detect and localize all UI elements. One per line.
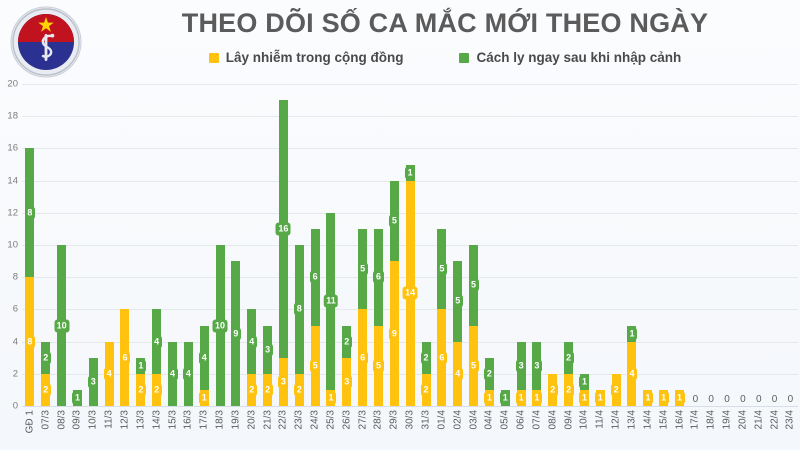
bar-stack: 22 — [422, 342, 431, 406]
bar-stack: 2 — [548, 374, 557, 406]
bar-segment-quarantine[interactable]: 4 — [200, 326, 209, 390]
y-axis-tick-2: 2 — [0, 368, 18, 379]
y-axis-tick-4: 4 — [0, 336, 18, 347]
bar-stack: 21 — [485, 358, 494, 406]
bar-segment-quarantine[interactable]: 9 — [231, 261, 240, 406]
bar-value-label-quarantine: 4 — [183, 367, 193, 380]
bar-column[interactable]: 3 — [85, 84, 101, 406]
bar-stack: 9 — [231, 261, 240, 406]
bar-column[interactable]: 82 — [291, 84, 307, 406]
bar-value-label-community: 6 — [437, 351, 447, 364]
bar-column[interactable]: 11 — [577, 84, 593, 406]
legend-label-quarantine: Cách ly ngay sau khi nhập cảnh — [476, 50, 681, 65]
bar-column[interactable]: 0 — [687, 84, 703, 406]
bar-column[interactable]: 12 — [133, 84, 149, 406]
bar-value-label-quarantine: 2 — [41, 351, 51, 364]
legend-label-community: Lây nhiễm trong cộng đồng — [226, 50, 404, 65]
bar-value-label-quarantine: 1 — [579, 375, 589, 388]
y-axis-tick-14: 14 — [0, 175, 18, 186]
x-axis-tick-label: 17/4 — [690, 410, 701, 429]
bar-column[interactable]: 1 — [640, 84, 656, 406]
bar-column[interactable]: 9 — [228, 84, 244, 406]
bar-column[interactable]: 22 — [38, 84, 54, 406]
x-axis-tick-label: 06/4 — [516, 410, 527, 429]
bar-column[interactable]: 4 — [180, 84, 196, 406]
bar-column[interactable]: 21 — [481, 84, 497, 406]
bar-value-label-community: 2 — [294, 383, 304, 396]
x-axis-cell: 27/3 — [355, 408, 371, 450]
bar-segment-quarantine[interactable]: 4 — [168, 342, 177, 406]
bar-segment-quarantine[interactable]: 6 — [311, 229, 320, 326]
bar-segment-quarantine[interactable]: 5 — [453, 261, 462, 342]
bar-segment-community[interactable]: 8 — [25, 277, 34, 406]
bar-stack: 56 — [358, 229, 367, 406]
bar-segment-quarantine[interactable]: 3 — [517, 342, 526, 390]
bar-stack: 23 — [342, 326, 351, 406]
chart-x-axis: GĐ 107/308/309/310/311/312/313/314/315/3… — [22, 408, 798, 450]
x-axis-cell: 04/4 — [481, 408, 497, 450]
chart-header: THEO DÕI SỐ CA MẮC MỚI THEO NGÀY Lây nhi… — [0, 0, 800, 84]
bar-column[interactable]: 0 — [719, 84, 735, 406]
bar-value-label-quarantine: 4 — [199, 351, 209, 364]
bar-column[interactable]: 42 — [149, 84, 165, 406]
bar-segment-community[interactable]: 6 — [437, 309, 446, 406]
bar-segment-community[interactable]: 2 — [247, 374, 256, 406]
x-axis-cell: 08/4 — [545, 408, 561, 450]
x-axis-tick-label: 09/3 — [72, 410, 83, 429]
bar-segment-quarantine[interactable]: 2 — [342, 326, 351, 358]
bar-column[interactable]: 65 — [307, 84, 323, 406]
bar-stack: 12 — [136, 358, 145, 406]
bar-segment-community[interactable]: 4 — [105, 342, 114, 406]
bar-column[interactable]: 111 — [323, 84, 339, 406]
bar-column[interactable]: 1 — [497, 84, 513, 406]
bar-stack: 55 — [469, 245, 478, 406]
x-axis-cell: 08/3 — [54, 408, 70, 450]
bar-segment-community[interactable]: 1 — [643, 390, 652, 406]
bar-column[interactable]: 0 — [783, 84, 799, 406]
bar-segment-community[interactable]: 2 — [41, 374, 50, 406]
bar-value-label-quarantine: 3 — [516, 359, 526, 372]
bar-column[interactable]: 31 — [529, 84, 545, 406]
bar-segment-community[interactable]: 5 — [374, 326, 383, 407]
bar-segment-community[interactable]: 1 — [485, 390, 494, 406]
x-axis-tick-label: 24/3 — [310, 410, 321, 429]
bar-value-label-quarantine: 2 — [421, 351, 431, 364]
bar-segment-quarantine[interactable]: 1 — [406, 165, 415, 181]
bar-value-label-quarantine: 4 — [168, 367, 178, 380]
y-axis-tick-6: 6 — [0, 304, 18, 315]
x-axis-tick-label: 25/3 — [325, 410, 336, 429]
bar-stack: 54 — [453, 261, 462, 406]
bar-column[interactable]: 0 — [751, 84, 767, 406]
bar-segment-quarantine[interactable]: 3 — [263, 326, 272, 374]
bar-column[interactable]: 0 — [767, 84, 783, 406]
bar-column[interactable]: 6 — [117, 84, 133, 406]
bar-segment-quarantine[interactable]: 11 — [326, 213, 335, 390]
x-axis-cell: 23/4 — [783, 408, 799, 450]
x-axis-tick-label: 02/4 — [452, 410, 463, 429]
bar-stack: 65 — [311, 229, 320, 406]
bar-stack: 10 — [57, 245, 66, 406]
bar-value-label-community: 1 — [484, 391, 494, 404]
bar-segment-community[interactable]: 1 — [659, 390, 668, 406]
x-axis-tick-label: 10/3 — [88, 410, 99, 429]
bar-segment-quarantine[interactable]: 2 — [485, 358, 494, 390]
bar-stack: 22 — [564, 342, 573, 406]
x-axis-tick-label: 14/4 — [642, 410, 653, 429]
bar-value-label-quarantine: 1 — [136, 359, 146, 372]
bar-column[interactable]: 55 — [466, 84, 482, 406]
bar-value-label-quarantine: 5 — [358, 263, 368, 276]
x-axis-cell: 14/4 — [640, 408, 656, 450]
bar-value-label-community: 2 — [263, 383, 273, 396]
x-axis-tick-label: 16/4 — [674, 410, 685, 429]
bar-segment-quarantine[interactable]: 2 — [422, 342, 431, 374]
x-axis-tick-label: 11/3 — [104, 410, 115, 429]
bar-stack: 42 — [247, 309, 256, 406]
x-axis-cell: 13/4 — [624, 408, 640, 450]
bar-segment-community[interactable]: 6 — [358, 309, 367, 406]
bar-segment-quarantine[interactable]: 3 — [532, 342, 541, 390]
x-axis-cell: 14/3 — [149, 408, 165, 450]
bar-column[interactable]: 59 — [386, 84, 402, 406]
x-axis-cell: 11/4 — [592, 408, 608, 450]
bar-segment-quarantine[interactable]: 4 — [152, 309, 161, 373]
bar-segment-community[interactable]: 4 — [453, 342, 462, 406]
x-axis-cell: 18/4 — [703, 408, 719, 450]
bar-value-label-community: 4 — [453, 367, 463, 380]
bar-segment-community[interactable]: 14 — [406, 181, 415, 406]
bar-value-label-community: 5 — [469, 359, 479, 372]
bar-value-label-community: 3 — [278, 375, 288, 388]
x-axis-tick-label: 04/4 — [484, 410, 495, 429]
x-axis-cell: 06/4 — [513, 408, 529, 450]
bar-column[interactable]: 22 — [561, 84, 577, 406]
bar-value-label-quarantine: 6 — [373, 271, 383, 284]
bar-value-label-community: 4 — [627, 367, 637, 380]
x-axis-tick-label: 20/4 — [737, 410, 748, 429]
x-axis-cell: 21/4 — [751, 408, 767, 450]
bar-segment-community[interactable]: 1 — [517, 390, 526, 406]
bar-value-label-quarantine: 9 — [231, 327, 241, 340]
bar-column[interactable]: 1 — [70, 84, 86, 406]
bar-segment-quarantine[interactable]: 5 — [469, 245, 478, 326]
bar-segment-quarantine[interactable]: 5 — [358, 229, 367, 310]
bar-column[interactable]: 163 — [276, 84, 292, 406]
bar-stack: 111 — [326, 213, 335, 406]
x-axis-tick-label: 03/4 — [468, 410, 479, 429]
bar-value-label-community: 2 — [41, 383, 51, 396]
bar-segment-quarantine[interactable]: 10 — [57, 245, 66, 406]
bar-value-label-quarantine: 10 — [213, 319, 228, 332]
bar-value-label-community: 2 — [136, 383, 146, 396]
bar-value-label-community: 1 — [675, 391, 685, 404]
x-axis-cell: 22/3 — [276, 408, 292, 450]
bar-value-label-quarantine: 8 — [25, 206, 35, 219]
bar-segment-community[interactable]: 2 — [152, 374, 161, 406]
bar-segment-community[interactable]: 1 — [675, 390, 684, 406]
bar-column[interactable]: 10 — [212, 84, 228, 406]
x-axis-tick-label: 21/3 — [262, 410, 273, 429]
bar-zero-label: 0 — [740, 395, 746, 405]
x-axis-tick-label: 22/4 — [769, 410, 780, 429]
bar-column[interactable]: 1 — [592, 84, 608, 406]
x-axis-tick-label: 17/3 — [199, 410, 210, 429]
bar-column[interactable]: 4 — [101, 84, 117, 406]
bar-segment-quarantine[interactable]: 1 — [580, 374, 589, 390]
bar-column[interactable]: 32 — [260, 84, 276, 406]
bar-zero-label: 0 — [724, 395, 730, 405]
bar-segment-community[interactable]: 5 — [311, 326, 320, 407]
bar-value-label-quarantine: 4 — [152, 335, 162, 348]
x-axis-cell: 09/3 — [70, 408, 86, 450]
bar-segment-quarantine[interactable]: 4 — [247, 309, 256, 373]
bar-value-label-quarantine: 1 — [627, 327, 637, 340]
bar-stack: 56 — [437, 229, 446, 406]
x-axis-tick-label: 15/4 — [658, 410, 669, 429]
x-axis-cell: 31/3 — [418, 408, 434, 450]
bar-segment-community[interactable]: 2 — [295, 374, 304, 406]
bar-value-label-quarantine: 5 — [437, 263, 447, 276]
x-axis-cell: 24/3 — [307, 408, 323, 450]
x-axis-tick-label: 10/4 — [579, 410, 590, 429]
x-axis-cell: 28/3 — [371, 408, 387, 450]
bar-segment-community[interactable]: 1 — [326, 390, 335, 406]
bar-value-label-quarantine: 10 — [54, 319, 69, 332]
bar-segment-quarantine[interactable]: 16 — [279, 100, 288, 358]
x-axis-cell: 03/4 — [466, 408, 482, 450]
chart-title: THEO DÕI SỐ CA MẮC MỚI THEO NGÀY — [100, 8, 790, 39]
bar-column[interactable]: 2 — [545, 84, 561, 406]
bar-value-label-community: 2 — [152, 383, 162, 396]
bar-segment-quarantine[interactable]: 1 — [627, 326, 636, 342]
bar-segment-quarantine[interactable]: 8 — [25, 148, 34, 277]
bar-segment-community[interactable]: 2 — [263, 374, 272, 406]
x-axis-tick-label: 13/4 — [626, 410, 637, 429]
x-axis-tick-label: 31/3 — [421, 410, 432, 429]
bar-segment-quarantine[interactable]: 2 — [564, 342, 573, 374]
legend-item-community[interactable]: Lây nhiễm trong cộng đồng — [209, 50, 404, 65]
bar-segment-quarantine[interactable]: 10 — [216, 245, 225, 406]
x-axis-tick-label: 28/3 — [373, 410, 384, 429]
x-axis-cell: 25/3 — [323, 408, 339, 450]
bar-segment-quarantine[interactable]: 6 — [374, 229, 383, 326]
x-axis-cell: 17/4 — [687, 408, 703, 450]
bar-column[interactable]: 56 — [355, 84, 371, 406]
x-axis-cell: 10/3 — [85, 408, 101, 450]
bar-value-label-quarantine: 1 — [500, 391, 510, 404]
bar-value-label-community: 4 — [104, 367, 114, 380]
x-axis-cell: 18/3 — [212, 408, 228, 450]
bar-value-label-community: 2 — [548, 383, 558, 396]
bar-segment-community[interactable]: 9 — [390, 261, 399, 406]
bar-column[interactable]: 1 — [672, 84, 688, 406]
x-axis-tick-label: 19/3 — [230, 410, 241, 429]
x-axis-tick-label: 18/4 — [706, 410, 717, 429]
x-axis-tick-label: 12/4 — [611, 410, 622, 429]
bar-stack: 65 — [374, 229, 383, 406]
bar-value-label-community: 2 — [611, 383, 621, 396]
bar-value-label-community: 1 — [579, 391, 589, 404]
bar-value-label-quarantine: 11 — [324, 295, 339, 308]
bar-value-label-quarantine: 5 — [453, 295, 463, 308]
x-axis-tick-label: 07/4 — [531, 410, 542, 429]
bar-zero-label: 0 — [788, 395, 794, 405]
bar-segment-community[interactable]: 1 — [532, 390, 541, 406]
y-axis-tick-12: 12 — [0, 207, 18, 218]
x-axis-tick-label: 26/3 — [341, 410, 352, 429]
bar-column[interactable]: 41 — [196, 84, 212, 406]
x-axis-tick-label: 11/4 — [595, 410, 606, 429]
bar-value-label-quarantine: 16 — [276, 222, 291, 235]
bar-stack: 4 — [184, 342, 193, 406]
bar-segment-quarantine[interactable]: 4 — [184, 342, 193, 406]
bar-value-label-quarantine: 2 — [342, 335, 352, 348]
gridline-0 — [22, 406, 798, 407]
bar-segment-community[interactable]: 4 — [627, 342, 636, 406]
x-axis-tick-label: GĐ 1 — [24, 410, 35, 433]
bar-stack: 22 — [41, 342, 50, 406]
bar-stack: 4 — [168, 342, 177, 406]
bar-segment-community[interactable]: 2 — [548, 374, 557, 406]
x-axis-cell: 02/4 — [450, 408, 466, 450]
bar-value-label-community: 5 — [310, 359, 320, 372]
bar-stack: 32 — [263, 326, 272, 406]
bar-value-label-community: 5 — [373, 359, 383, 372]
x-axis-cell: 09/4 — [561, 408, 577, 450]
bar-segment-quarantine[interactable]: 3 — [89, 358, 98, 406]
bar-value-label-quarantine: 3 — [263, 343, 273, 356]
bar-column[interactable]: 31 — [513, 84, 529, 406]
x-axis-tick-label: 29/3 — [389, 410, 400, 429]
legend-item-quarantine[interactable]: Cách ly ngay sau khi nhập cảnh — [459, 50, 681, 65]
bar-value-label-community: 8 — [25, 335, 35, 348]
bar-stack: 6 — [120, 309, 129, 406]
bar-column[interactable]: 65 — [371, 84, 387, 406]
x-axis-cell: 16/3 — [180, 408, 196, 450]
bar-zero-label: 0 — [708, 395, 714, 405]
x-axis-tick-label: 01/4 — [436, 410, 447, 429]
bar-stack: 4 — [105, 342, 114, 406]
bar-stack: 41 — [200, 326, 209, 406]
bar-column[interactable]: 88 — [22, 84, 38, 406]
x-axis-tick-label: 19/4 — [722, 410, 733, 429]
bar-segment-community[interactable]: 5 — [469, 326, 478, 407]
bar-stack: 163 — [279, 100, 288, 406]
bar-segment-community[interactable]: 2 — [564, 374, 573, 406]
bar-column[interactable]: 0 — [703, 84, 719, 406]
bar-value-label-quarantine: 4 — [247, 335, 257, 348]
x-axis-cell: 16/4 — [672, 408, 688, 450]
bar-column[interactable]: 54 — [450, 84, 466, 406]
x-axis-cell: 05/4 — [497, 408, 513, 450]
bar-stack: 1 — [596, 390, 605, 406]
x-axis-tick-label: 05/4 — [500, 410, 511, 429]
x-axis-tick-label: 20/3 — [246, 410, 257, 429]
bar-value-label-quarantine: 1 — [405, 166, 415, 179]
bar-segment-quarantine[interactable]: 2 — [41, 342, 50, 374]
bar-column[interactable]: 22 — [418, 84, 434, 406]
bar-stack: 1 — [675, 390, 684, 406]
bar-column[interactable]: 10 — [54, 84, 70, 406]
bar-column[interactable]: 0 — [735, 84, 751, 406]
chart-legend: Lây nhiễm trong cộng đồng Cách ly ngay s… — [100, 50, 790, 65]
chart-bars: 8822101346124244411094232163826511123566… — [22, 84, 798, 406]
bar-stack: 10 — [216, 245, 225, 406]
bar-segment-community[interactable]: 3 — [279, 358, 288, 406]
bar-segment-quarantine[interactable]: 1 — [501, 390, 510, 406]
x-axis-cell: 30/3 — [402, 408, 418, 450]
bar-segment-community[interactable]: 2 — [136, 374, 145, 406]
x-axis-tick-label: 27/3 — [357, 410, 368, 429]
bar-segment-community[interactable]: 2 — [612, 374, 621, 406]
bar-segment-quarantine[interactable]: 5 — [437, 229, 446, 310]
bar-segment-community[interactable]: 1 — [200, 390, 209, 406]
bar-value-label-quarantine: 1 — [72, 391, 82, 404]
x-axis-tick-label: 09/4 — [563, 410, 574, 429]
bar-segment-community[interactable]: 3 — [342, 358, 351, 406]
x-axis-cell: 15/4 — [656, 408, 672, 450]
y-axis-tick-0: 0 — [0, 401, 18, 412]
bar-segment-community[interactable]: 2 — [422, 374, 431, 406]
bar-value-label-quarantine: 5 — [469, 279, 479, 292]
bar-value-label-community: 2 — [564, 383, 574, 396]
x-axis-cell: 19/3 — [228, 408, 244, 450]
y-axis-tick-20: 20 — [0, 79, 18, 90]
bar-segment-community[interactable]: 1 — [580, 390, 589, 406]
bar-column[interactable]: 2 — [608, 84, 624, 406]
y-axis-tick-18: 18 — [0, 111, 18, 122]
chart-plot-area: 02468101214161820 8822101346124244411094… — [0, 84, 800, 450]
bar-value-label-quarantine: 3 — [532, 359, 542, 372]
bar-segment-quarantine[interactable]: 5 — [390, 181, 399, 262]
bar-segment-community[interactable]: 6 — [120, 309, 129, 406]
bar-column[interactable]: 1 — [656, 84, 672, 406]
bar-column[interactable]: 114 — [402, 84, 418, 406]
bar-value-label-community: 3 — [342, 375, 352, 388]
bar-value-label-community: 1 — [516, 391, 526, 404]
x-axis-cell: 01/4 — [434, 408, 450, 450]
bar-segment-quarantine[interactable]: 1 — [73, 390, 82, 406]
bar-column[interactable]: 23 — [339, 84, 355, 406]
bar-value-label-community: 1 — [595, 391, 605, 404]
bar-stack: 11 — [580, 374, 589, 406]
x-axis-cell: 11/3 — [101, 408, 117, 450]
bar-segment-quarantine[interactable]: 1 — [136, 358, 145, 374]
x-axis-tick-label: 15/3 — [167, 410, 178, 429]
y-axis-tick-16: 16 — [0, 143, 18, 154]
bar-stack: 59 — [390, 181, 399, 406]
x-axis-cell: 19/4 — [719, 408, 735, 450]
x-axis-cell: 15/3 — [165, 408, 181, 450]
bar-segment-quarantine[interactable]: 8 — [295, 245, 304, 374]
bar-column[interactable]: 14 — [624, 84, 640, 406]
x-axis-tick-label: 18/3 — [215, 410, 226, 429]
bar-column[interactable]: 4 — [165, 84, 181, 406]
chart-page: THEO DÕI SỐ CA MẮC MỚI THEO NGÀY Lây nhi… — [0, 0, 800, 450]
bar-segment-community[interactable]: 1 — [596, 390, 605, 406]
bar-value-label-quarantine: 2 — [484, 367, 494, 380]
x-axis-cell: 29/3 — [386, 408, 402, 450]
y-axis-tick-10: 10 — [0, 240, 18, 251]
x-axis-cell: 13/3 — [133, 408, 149, 450]
bar-stack: 1 — [73, 390, 82, 406]
bar-column[interactable]: 56 — [434, 84, 450, 406]
bar-stack: 2 — [612, 374, 621, 406]
x-axis-cell: 23/3 — [291, 408, 307, 450]
bar-column[interactable]: 42 — [244, 84, 260, 406]
